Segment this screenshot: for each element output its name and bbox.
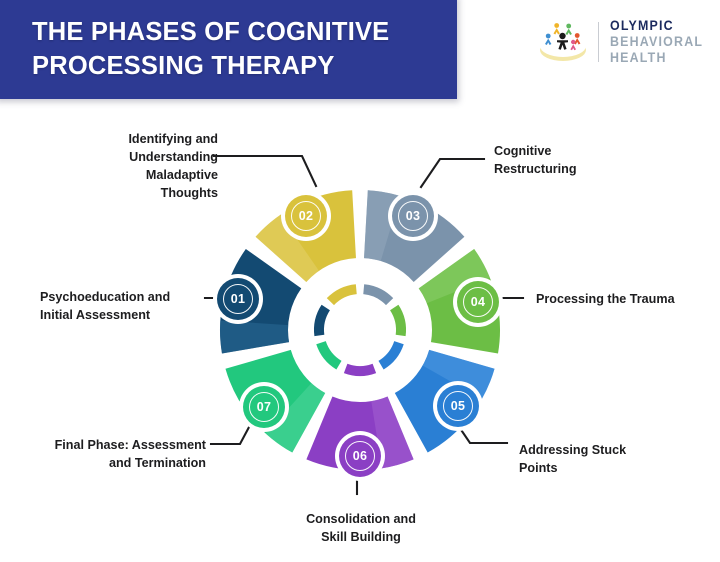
phase-label-06: Consolidation and Skill Building (275, 511, 447, 547)
logo-wordmark: OLYMPIC BEHAVIORAL HEALTH (610, 18, 711, 66)
phase-badge-05[interactable]: 05 (437, 385, 479, 427)
segment-inner-band (390, 305, 406, 336)
phase-number-05: 05 (443, 391, 473, 421)
people-circle-icon (536, 17, 590, 67)
infographic-canvas: THE PHASES OF COGNITIVE PROCESSING THERA… (0, 0, 720, 562)
wheel-center-hub (328, 298, 392, 362)
phase-badge-04[interactable]: 04 (457, 281, 499, 323)
phase-label-05: Addressing Stuck Points (519, 442, 669, 478)
page-title: THE PHASES OF COGNITIVE PROCESSING THERA… (32, 16, 432, 83)
phase-wheel-chart (215, 185, 505, 475)
phase-number-02: 02 (291, 201, 321, 231)
phase-number-03: 03 (398, 201, 428, 231)
phase-badge-06[interactable]: 06 (339, 435, 381, 477)
phase-label-01: Psychoeducation and Initial Assessment (40, 289, 204, 325)
logo-divider (598, 22, 599, 62)
brand-logo: OLYMPIC BEHAVIORAL HEALTH (536, 14, 712, 70)
phase-label-07: Final Phase: Assessment and Termination (36, 437, 206, 473)
phase-number-01: 01 (223, 284, 253, 314)
segment-highlight (220, 321, 289, 354)
segment-inner-band (314, 305, 330, 336)
phase-badge-03[interactable]: 03 (392, 195, 434, 237)
phase-number-06: 06 (345, 441, 375, 471)
segment-inner-band (344, 364, 376, 376)
phase-badge-02[interactable]: 02 (285, 195, 327, 237)
phase-badge-07[interactable]: 07 (243, 386, 285, 428)
phase-number-07: 07 (249, 392, 279, 422)
logo-line-behavioral: BEHAVIORAL (610, 34, 703, 50)
logo-line-olympic: OLYMPIC (610, 18, 703, 34)
logo-line-health: HEALTH (610, 50, 703, 66)
phase-label-04: Processing the Trauma (536, 291, 716, 309)
title-banner: THE PHASES OF COGNITIVE PROCESSING THERA… (0, 0, 457, 99)
phase-label-02: Identifying and Understanding Maladaptiv… (86, 131, 218, 203)
donut-svg (215, 185, 505, 475)
phase-badge-01[interactable]: 01 (217, 278, 259, 320)
phase-label-03: Cognitive Restructuring (494, 143, 634, 179)
phase-number-04: 04 (463, 287, 493, 317)
